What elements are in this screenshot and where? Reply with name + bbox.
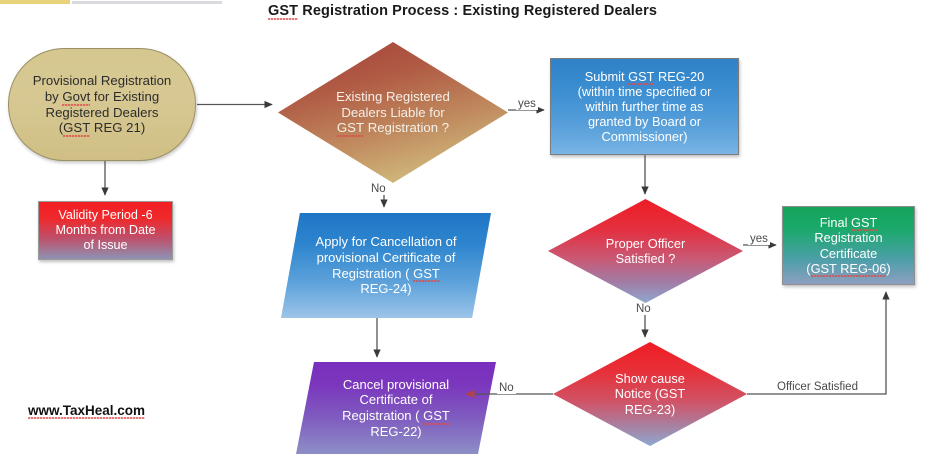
node-proper-officer-satisfied-decision[interactable]: Proper Officer Satisfied ?: [548, 199, 743, 303]
edge-label-showcause-no: No: [497, 382, 516, 394]
node-apply-cancellation-label: Apply for Cancellation of provisional Ce…: [302, 234, 470, 296]
node-final-certificate[interactable]: Final GST Registration Certificate (GST …: [782, 206, 915, 285]
node-final-certificate-label: Final GST Registration Certificate (GST …: [783, 215, 914, 275]
page-title-rest: Registration Process : Existing Register…: [302, 3, 657, 19]
watermark-taxheal: www.TaxHeal.com: [28, 403, 145, 418]
flowchart-canvas: GST Registration Process : Existing Regi…: [0, 0, 925, 461]
node-provisional-registration[interactable]: Provisional Registration by Govt for Exi…: [8, 48, 196, 161]
node-show-cause-notice-label: Show cause Notice (GST REG-23): [576, 371, 723, 417]
edge-label-officer-no: No: [634, 303, 653, 315]
node-cancel-provisional-label: Cancel provisional Certificate of Regist…: [316, 377, 476, 439]
node-provisional-registration-label: Provisional Registration by Govt for Exi…: [9, 73, 195, 135]
node-submit-reg20-label: Submit GST REG-20 (within time specified…: [551, 69, 738, 144]
edge-label-officer-satisfied: Officer Satisfied: [775, 381, 860, 393]
node-validity-period[interactable]: Validity Period -6 Months from Date of I…: [38, 201, 173, 260]
edge-label-liable-no: No: [369, 183, 388, 195]
node-apply-cancellation[interactable]: Apply for Cancellation of provisional Ce…: [281, 213, 491, 318]
edge-label-liable-yes: yes: [516, 98, 538, 110]
node-dealers-liable-decision[interactable]: Existing Registered Dealers Liable for G…: [278, 42, 508, 183]
node-proper-officer-satisfied-label: Proper Officer Satisfied ?: [571, 236, 719, 267]
page-title: GST Registration Process : Existing Regi…: [0, 3, 925, 19]
edge-label-officer-yes: yes: [748, 233, 770, 245]
node-show-cause-notice[interactable]: Show cause Notice (GST REG-23): [553, 342, 747, 446]
node-submit-reg20[interactable]: Submit GST REG-20 (within time specified…: [550, 58, 739, 155]
node-dealers-liable-label: Existing Registered Dealers Liable for G…: [306, 89, 481, 137]
node-cancel-provisional[interactable]: Cancel provisional Certificate of Regist…: [296, 362, 496, 454]
node-validity-period-label: Validity Period -6 Months from Date of I…: [39, 208, 172, 253]
edge-showcause-to-finalcert: [747, 292, 886, 394]
